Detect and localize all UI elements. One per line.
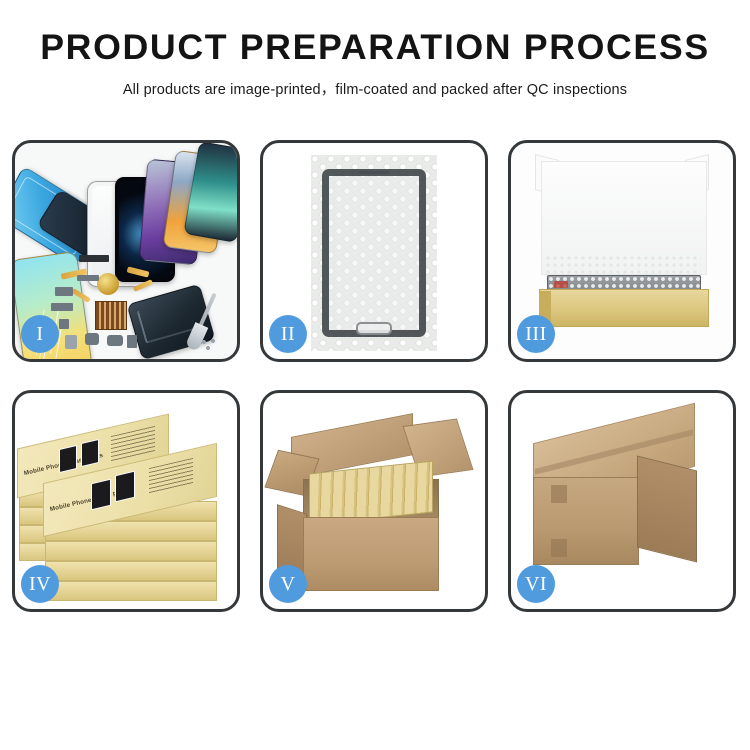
- carton-front-icon: [303, 517, 439, 591]
- step-badge-1: I: [21, 315, 59, 353]
- small-part-icon: [65, 335, 77, 349]
- page-subtitle: All products are image-printed，film-coat…: [0, 78, 750, 99]
- step-badge-4: IV: [21, 565, 59, 603]
- step-badge-6: VI: [517, 565, 555, 603]
- step-panel-1[interactable]: I: [12, 140, 240, 362]
- small-part-icon: [51, 303, 73, 311]
- kraft-box-icon: [45, 541, 217, 561]
- small-part-icon: [79, 255, 109, 262]
- step-panel-3[interactable]: III: [508, 140, 736, 362]
- box-art-screen-icon: [59, 445, 77, 473]
- sealed-carton-front-icon: [533, 477, 639, 565]
- speaker-coil-icon: [97, 273, 119, 295]
- header: PRODUCT PREPARATION PROCESS All products…: [0, 0, 750, 99]
- step-badge-5: V: [269, 565, 307, 603]
- box-art-screen-icon: [115, 471, 135, 503]
- kraft-box-front-icon: [539, 289, 709, 327]
- box-art-screen-icon: [91, 479, 111, 511]
- step-badge-3: III: [517, 315, 555, 353]
- step-badge-2: II: [269, 315, 307, 353]
- carton-tape-patch-icon: [551, 485, 567, 503]
- bubble-wrap-icon: [311, 155, 437, 351]
- sealed-carton-side-icon: [637, 456, 697, 563]
- screws-icon: [201, 339, 217, 351]
- step-panel-5[interactable]: V: [260, 390, 488, 612]
- wrapped-phone-screen-icon: [322, 169, 426, 337]
- box-art-screen-icon: [81, 439, 99, 467]
- small-part-icon: [127, 335, 137, 348]
- step-panel-6[interactable]: VI: [508, 390, 736, 612]
- kraft-box-icon: [45, 561, 217, 581]
- small-part-icon: [85, 333, 99, 345]
- kraft-box-icon: [45, 581, 217, 601]
- carton-tape-patch-icon: [551, 539, 567, 557]
- process-step-grid: I II III: [12, 140, 738, 612]
- page-title: PRODUCT PREPARATION PROCESS: [0, 30, 750, 67]
- chip-grid-icon: [95, 301, 127, 330]
- small-part-icon: [107, 335, 123, 346]
- step-panel-2[interactable]: II: [260, 140, 488, 362]
- small-part-icon: [77, 275, 99, 281]
- small-part-icon: [59, 319, 69, 329]
- small-part-icon: [55, 287, 73, 296]
- step-panel-4[interactable]: Mobile Phone Spare Parts Mobile Phone Sp…: [12, 390, 240, 612]
